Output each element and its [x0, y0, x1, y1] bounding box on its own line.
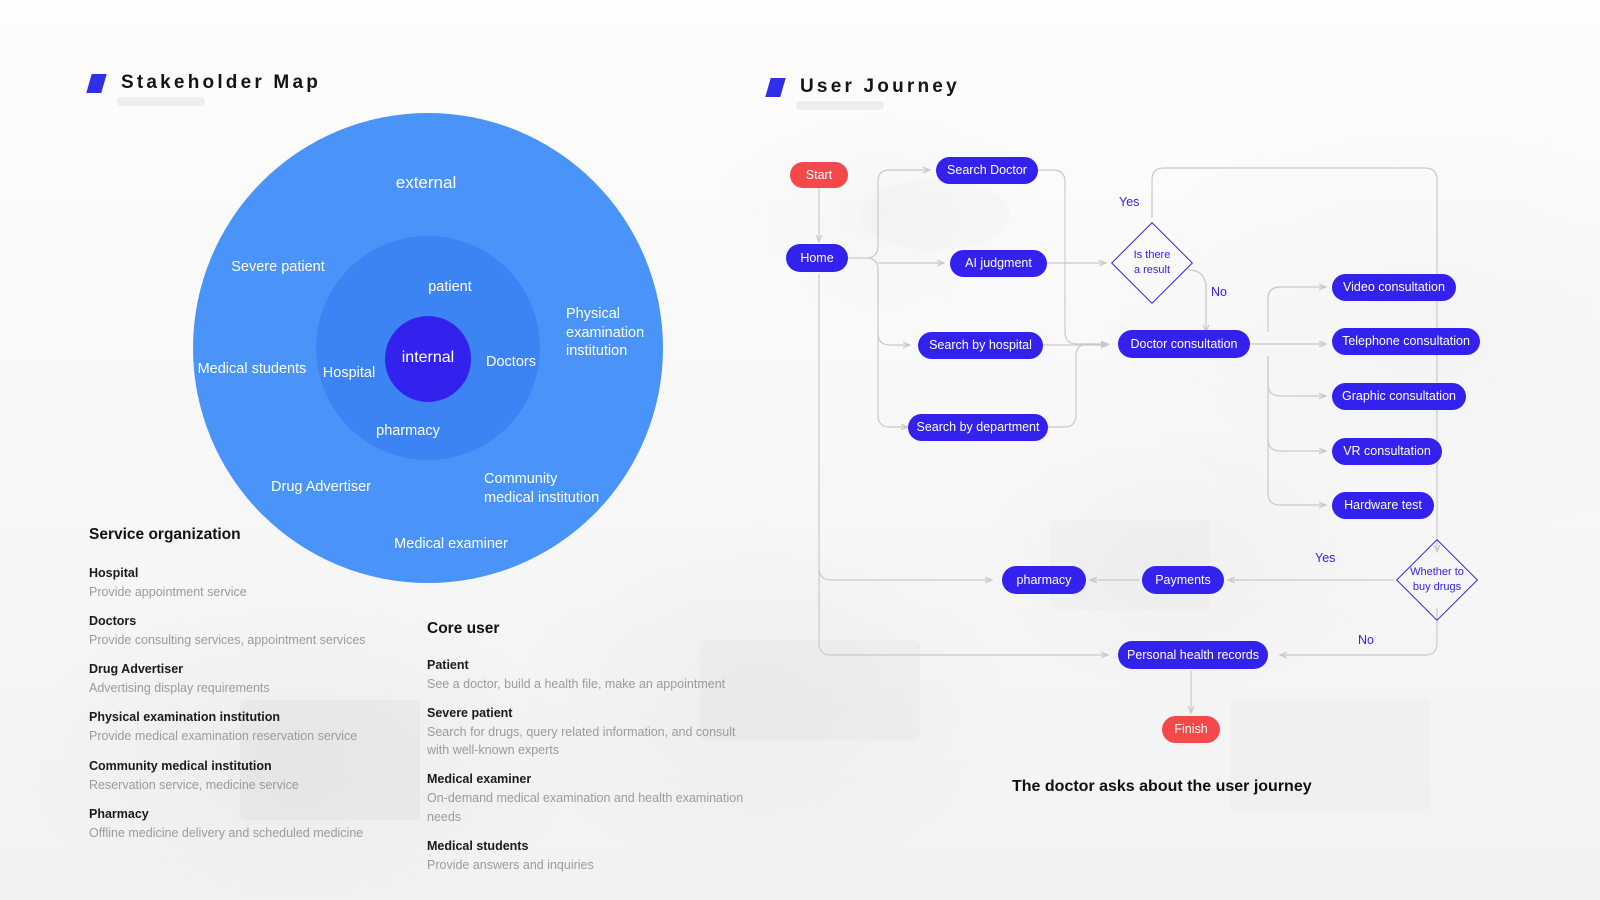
flow-node-graphic-consultation[interactable]: Graphic consultation: [1332, 383, 1466, 410]
list-item-desc: On-demand medical examination and health…: [427, 789, 767, 825]
list-item-name: Severe patient: [427, 706, 767, 720]
list-item-name: Medical students: [427, 839, 767, 853]
list-item: Community medical institution Reservatio…: [89, 759, 409, 794]
edge-label-no-result: No: [1211, 285, 1227, 299]
flow-node-video-consultation[interactable]: Video consultation: [1332, 274, 1456, 301]
list-item: Medical examiner On-demand medical exami…: [427, 772, 767, 825]
flow-node-telephone-consultation[interactable]: Telephone consultation: [1332, 328, 1480, 355]
list-item: Severe patient Search for drugs, query r…: [427, 706, 767, 759]
list-item-name: Drug Advertiser: [89, 662, 409, 676]
flow-node-search-doctor[interactable]: Search Doctor: [936, 157, 1038, 184]
stakeholder-diagram: external internal patient Hospital Docto…: [0, 0, 700, 600]
ring-label-hospital: Hospital: [308, 364, 390, 383]
list-item-desc: Provide medical examination reservation …: [89, 727, 409, 745]
flow-node-ai-judgment[interactable]: AI judgment: [950, 250, 1047, 277]
outer-label-community-medical-institution: Community medical institution: [484, 470, 620, 507]
flow-node-hardware-test[interactable]: Hardware test: [1332, 492, 1434, 519]
flow-node-pharmacy[interactable]: pharmacy: [1002, 566, 1086, 594]
outer-label-drug-advertiser: Drug Advertiser: [255, 478, 387, 497]
ring-label-doctors: Doctors: [474, 353, 548, 372]
flow-node-start[interactable]: Start: [790, 162, 848, 188]
list-item: Doctors Provide consulting services, app…: [89, 614, 409, 649]
list-item-name: Physical examination institution: [89, 710, 409, 724]
flow-node-doctor-consultation[interactable]: Doctor consultation: [1118, 330, 1250, 358]
flow-node-finish[interactable]: Finish: [1162, 716, 1220, 743]
ring-label-internal: internal: [385, 348, 471, 368]
section-marker-icon: [765, 78, 785, 97]
list-item: Patient See a doctor, build a health fil…: [427, 658, 767, 693]
user-journey-title: User Journey: [800, 76, 960, 98]
ring-label-external: external: [368, 172, 484, 194]
list-item: Physical examination institution Provide…: [89, 710, 409, 745]
list-item: Medical students Provide answers and inq…: [427, 839, 767, 874]
list-item-desc: Search for drugs, query related informat…: [427, 723, 749, 759]
list-item-desc: Provide appointment service: [89, 583, 409, 601]
service-organization-title: Service organization: [89, 526, 409, 544]
flow-node-payments[interactable]: Payments: [1142, 566, 1224, 594]
flow-decision-is-there-a-result-label: Is there a result: [1112, 244, 1192, 282]
journey-title-underbar: [796, 101, 884, 110]
list-item-name: Medical examiner: [427, 772, 767, 786]
outer-label-physical-examination-institution: Physical examination institution: [566, 305, 662, 361]
list-item-desc: See a doctor, build a health file, make …: [427, 675, 767, 693]
flow-node-personal-health-records[interactable]: Personal health records: [1118, 641, 1268, 669]
list-item-name: Community medical institution: [89, 759, 409, 773]
list-item-name: Doctors: [89, 614, 409, 628]
list-item-desc: Provide consulting services, appointment…: [89, 631, 409, 649]
list-item-desc: Offline medicine delivery and scheduled …: [89, 824, 409, 842]
outer-label-severe-patient: Severe patient: [213, 258, 343, 277]
list-item-desc: Provide answers and inquiries: [427, 856, 767, 874]
list-item-name: Hospital: [89, 566, 409, 580]
flow-node-home[interactable]: Home: [786, 244, 848, 272]
list-item-name: Pharmacy: [89, 807, 409, 821]
list-item-name: Patient: [427, 658, 767, 672]
user-journey-heading: User Journey: [768, 76, 960, 98]
edge-label-yes-buy-drugs: Yes: [1315, 551, 1335, 565]
list-item: Drug Advertiser Advertising display requ…: [89, 662, 409, 697]
outer-label-medical-students: Medical students: [187, 360, 317, 379]
flow-decision-whether-to-buy-drugs-label: Whether to buy drugs: [1396, 561, 1478, 599]
edge-label-yes-result: Yes: [1119, 195, 1139, 209]
ring-label-pharmacy: pharmacy: [356, 422, 460, 441]
flow-node-search-by-department[interactable]: Search by department: [908, 414, 1048, 441]
ring-label-patient: patient: [398, 278, 502, 297]
flow-node-search-by-hospital[interactable]: Search by hospital: [918, 332, 1043, 359]
list-item-desc: Reservation service, medicine service: [89, 776, 409, 794]
core-user-title: Core user: [427, 620, 767, 638]
list-item: Pharmacy Offline medicine delivery and s…: [89, 807, 409, 842]
edge-label-no-buy-drugs: No: [1358, 633, 1374, 647]
core-user-list: Core user Patient See a doctor, build a …: [427, 620, 767, 887]
flow-node-vr-consultation[interactable]: VR consultation: [1332, 438, 1442, 465]
service-organization-list: Service organization Hospital Provide ap…: [89, 526, 409, 855]
list-item-desc: Advertising display requirements: [89, 679, 409, 697]
list-item: Hospital Provide appointment service: [89, 566, 409, 601]
